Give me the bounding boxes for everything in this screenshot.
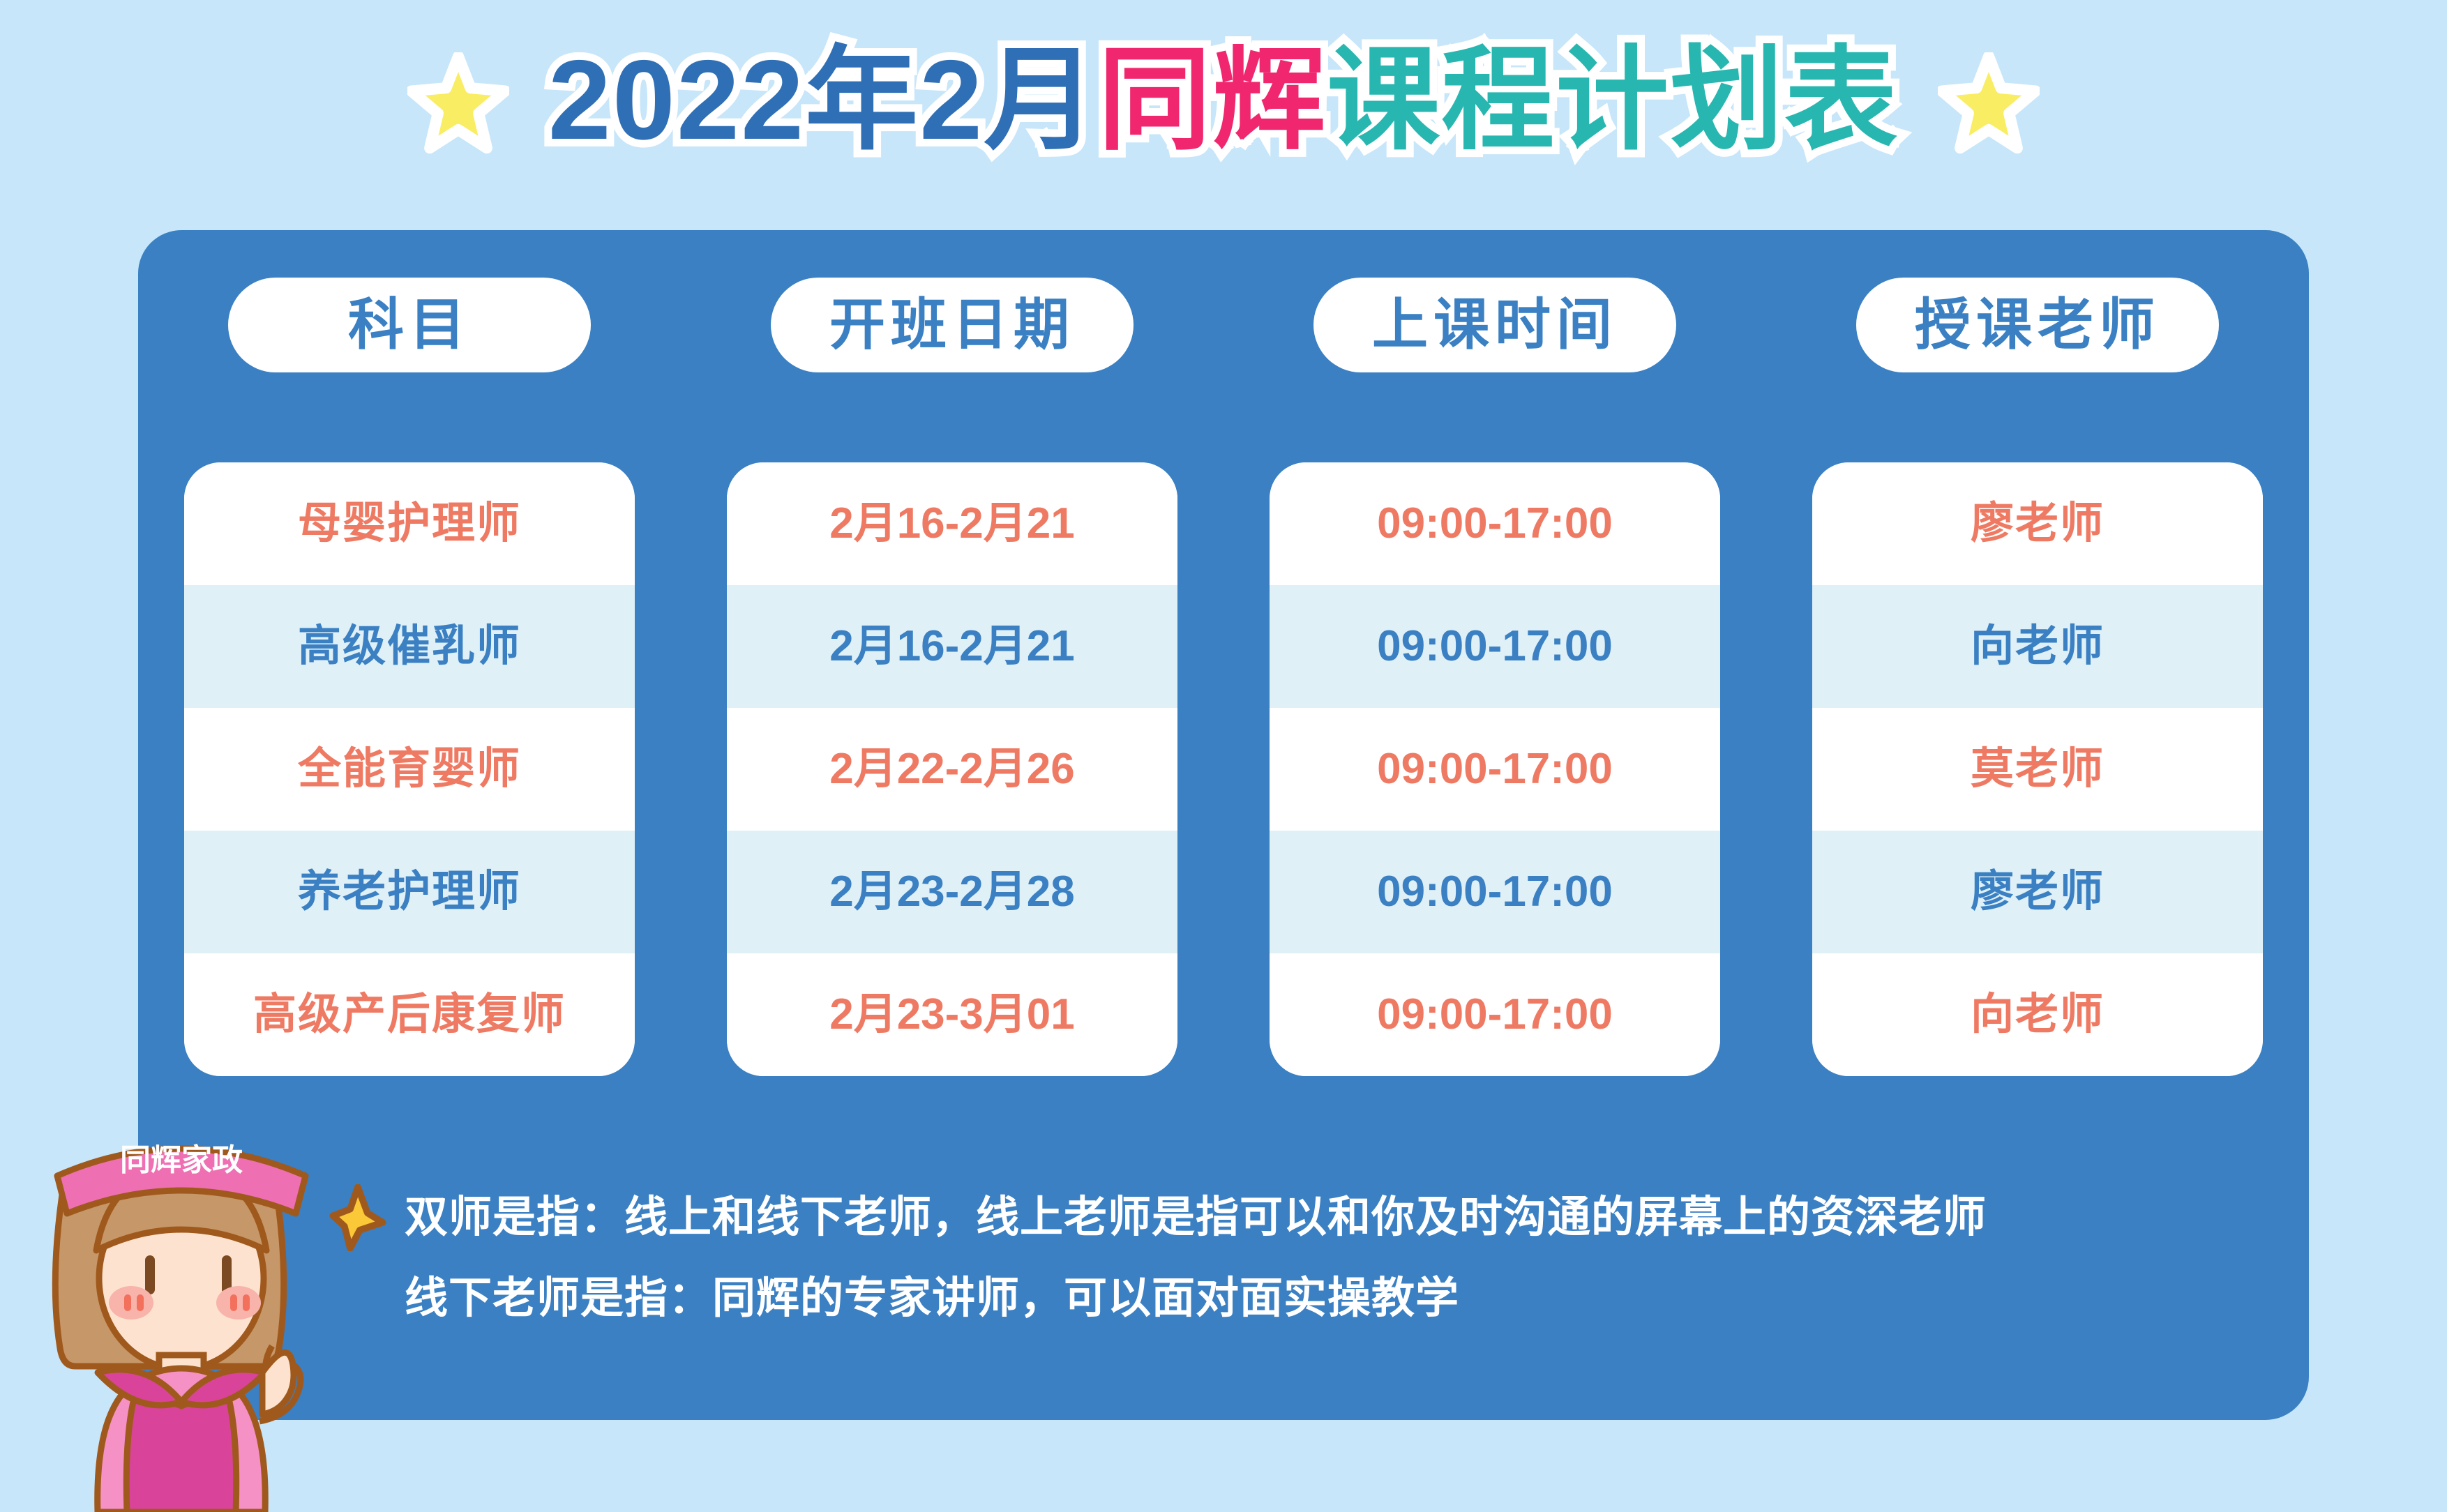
header-cell-subject: 科目 [138,278,681,372]
star-icon [407,52,509,154]
header-label-subject: 科目 [348,297,471,353]
cheek-line-right [243,1294,250,1311]
note-text-1: 双师是指：线上和线下老师，线上老师是指可以和你及时沟通的屏幕上的资深老师 [405,1196,1987,1239]
header-pill-time: 上课时间 [1313,278,1676,372]
table-row: 廖老师 [1812,831,2263,953]
title-part-date: 2022年2月 [548,37,1098,163]
table-row: 高级产后康复师 [184,953,635,1076]
column-slot-date: 2月16-2月21 2月16-2月21 2月22-2月26 2月23-2月28 … [681,462,1223,1076]
footer-note: 双师是指：线上和线下老师，线上老师是指可以和你及时沟通的屏幕上的资深老师 线下老… [328,1177,2274,1339]
table-row: 莫老师 [1812,708,2263,831]
column-slot-subject: 母婴护理师 高级催乳师 全能育婴师 养老护理师 高级产后康复师 [138,462,681,1076]
table-row: 2月22-2月26 [727,708,1177,831]
cheek-right [216,1286,261,1320]
column-card-time: 09:00-17:00 09:00-17:00 09:00-17:00 09:0… [1270,462,1720,1076]
table-row: 全能育婴师 [184,708,635,831]
note-text-2: 线下老师是指：同辉的专家讲师，可以面对面实操教学 [405,1277,1459,1320]
column-slot-time: 09:00-17:00 09:00-17:00 09:00-17:00 09:0… [1223,462,1766,1076]
header-cell-time: 上课时间 [1223,278,1766,372]
table-row: 高级催乳师 [184,585,635,708]
column-card-teacher: 廖老师 向老师 莫老师 廖老师 向老师 [1812,462,2263,1076]
table-row: 向老师 [1812,953,2263,1076]
table-row: 养老护理师 [184,831,635,953]
header-pill-subject: 科目 [228,278,591,372]
apron [126,1388,236,1512]
table-row: 09:00-17:00 [1270,462,1720,585]
note-line-1: 双师是指：线上和线下老师，线上老师是指可以和你及时沟通的屏幕上的资深老师 [328,1177,2274,1258]
table-row: 09:00-17:00 [1270,831,1720,953]
table-row: 2月23-2月28 [727,831,1177,953]
table-row: 母婴护理师 [184,462,635,585]
page-title: 2022年2月同辉课程计划表 [0,24,2447,177]
table-row: 2月23-3月01 [727,953,1177,1076]
eye-left [145,1255,155,1294]
header-label-time: 上课时间 [1372,297,1618,353]
title-text: 2022年2月同辉课程计划表 [548,44,1899,157]
title-part-brand: 同辉 [1098,37,1327,163]
header-label-teacher: 授课老师 [1915,297,2160,353]
header-pill-date: 开班日期 [771,278,1134,372]
table-row: 廖老师 [1812,462,2263,585]
headband-label: 同辉家政 [120,1143,243,1177]
table-row: 09:00-17:00 [1270,708,1720,831]
table-row: 2月16-2月21 [727,585,1177,708]
column-card-subject: 母婴护理师 高级催乳师 全能育婴师 养老护理师 高级产后康复师 [184,462,635,1076]
header-cell-teacher: 授课老师 [1766,278,2309,372]
table-row: 09:00-17:00 [1270,585,1720,708]
table-row: 09:00-17:00 [1270,953,1720,1076]
header-label-date: 开班日期 [829,297,1075,353]
cheek-line-left [137,1294,144,1311]
star-icon [1938,52,2040,154]
table-body: 母婴护理师 高级催乳师 全能育婴师 养老护理师 高级产后康复师 2月16-2月2… [138,462,2309,1076]
column-slot-teacher: 廖老师 向老师 莫老师 廖老师 向老师 [1766,462,2309,1076]
table-header-row: 科目 开班日期 上课时间 授课老师 [138,278,2309,372]
mascot-illustration: 同辉家政 [14,1073,349,1512]
header-pill-teacher: 授课老师 [1856,278,2219,372]
note-line-2: 线下老师是指：同辉的专家讲师，可以面对面实操教学 [328,1258,2274,1339]
cheek-line-left [124,1294,131,1311]
column-card-date: 2月16-2月21 2月16-2月21 2月22-2月26 2月23-2月28 … [727,462,1177,1076]
cheek-line-right [230,1294,237,1311]
title-part-subject: 课程计划表 [1327,37,1899,163]
table-row: 向老师 [1812,585,2263,708]
table-row: 2月16-2月21 [727,462,1177,585]
header-cell-date: 开班日期 [681,278,1223,372]
